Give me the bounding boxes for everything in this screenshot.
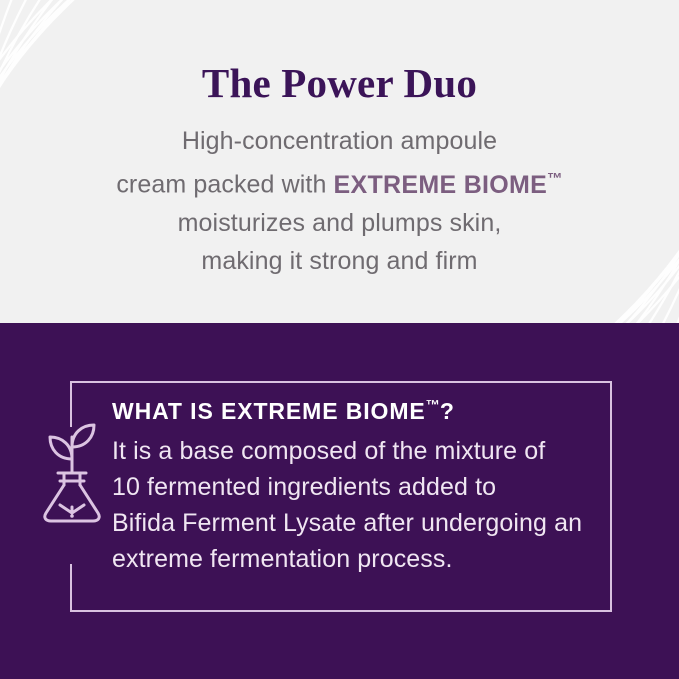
page-title: The Power Duo	[0, 62, 679, 105]
trademark-icon: ™	[426, 398, 440, 414]
callout-border-top	[70, 381, 612, 383]
callout-body-line-4: extreme fermentation process.	[112, 541, 598, 577]
callout-body-line-1: It is a base composed of the mixture of	[112, 433, 598, 469]
subtitle-line-4: making it strong and firm	[0, 242, 679, 280]
subtitle-line-2: cream packed with EXTREME BIOME™	[0, 160, 679, 204]
callout-heading-text: WHAT IS EXTREME BIOME	[112, 398, 426, 424]
flask-sprout-icon	[36, 419, 108, 527]
hero-section: The Power Duo High-concentration ampoule…	[0, 0, 679, 323]
subtitle-line-2-prefix: cream packed with	[116, 171, 333, 199]
trademark-icon: ™	[547, 170, 563, 187]
callout-body-line-2: 10 fermented ingredients added to	[112, 469, 598, 505]
callout-box: WHAT IS EXTREME BIOME™? It is a base com…	[70, 381, 612, 612]
subtitle-line-3: moisturizes and plumps skin,	[0, 204, 679, 242]
callout-border-bottom	[70, 610, 612, 612]
callout-heading-suffix: ?	[440, 398, 455, 424]
brand-name-text: EXTREME BIOME	[334, 171, 548, 199]
callout-heading: WHAT IS EXTREME BIOME™?	[112, 398, 455, 425]
hero-subtitle: High-concentration ampoule cream packed …	[0, 122, 679, 280]
callout-body: It is a base composed of the mixture of …	[112, 433, 598, 577]
flask-bubble-dot	[70, 514, 74, 518]
callout-body-line-3: Bifida Ferment Lysate after undergoing a…	[112, 505, 598, 541]
definition-section: WHAT IS EXTREME BIOME™? It is a base com…	[0, 323, 679, 679]
product-infographic: The Power Duo High-concentration ampoule…	[0, 0, 679, 679]
callout-border-right	[610, 381, 612, 612]
subtitle-line-1: High-concentration ampoule	[0, 122, 679, 160]
brand-name-extreme-biome: EXTREME BIOME™	[334, 171, 563, 199]
callout-border-left-lower	[70, 564, 72, 612]
